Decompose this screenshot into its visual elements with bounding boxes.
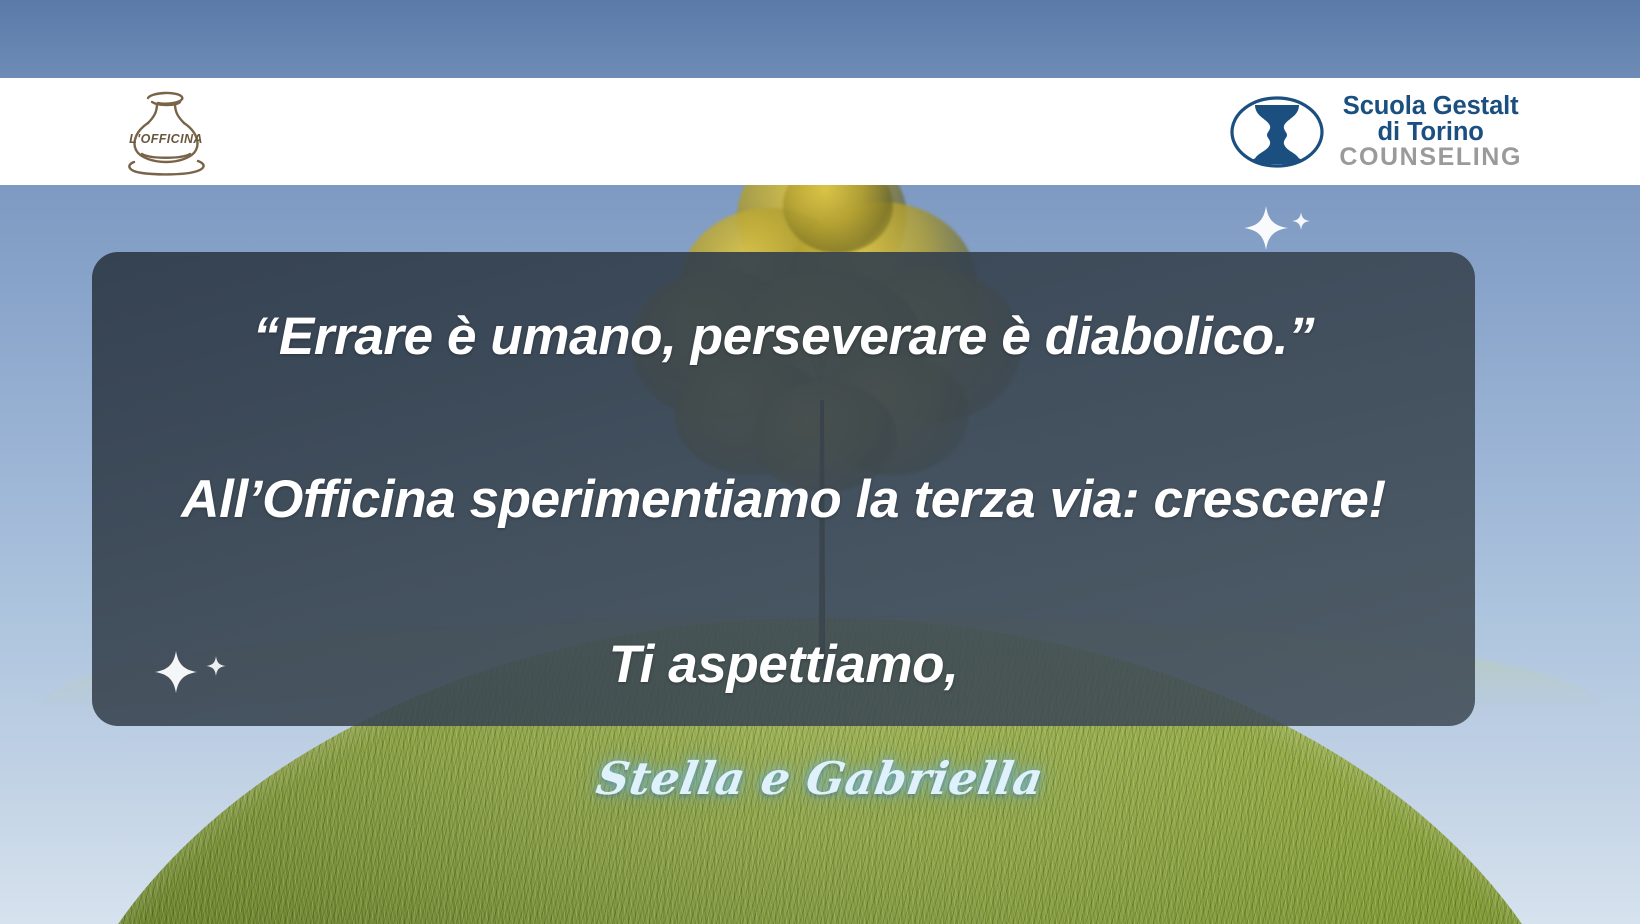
signature-text: Stella e Gabriella — [0, 752, 1640, 805]
gestalt-line-2: di Torino — [1339, 119, 1522, 145]
gestalt-line-1: Scuola Gestalt — [1339, 93, 1522, 119]
gestalt-line-3: COUNSELING — [1339, 145, 1522, 171]
gestalt-logo[interactable]: Scuola Gestalt di Torino COUNSELING — [1229, 88, 1522, 176]
quote-panel-content: “Errare è umano, perseverare è diabolico… — [92, 252, 1475, 726]
gestalt-wordmark: Scuola Gestalt di Torino COUNSELING — [1339, 93, 1522, 171]
poster-canvas: “Errare è umano, perseverare è diabolico… — [0, 0, 1640, 924]
quote-line-2: All’Officina sperimentiamo la terza via:… — [181, 469, 1385, 530]
rubin-vase-faces-icon — [1229, 95, 1325, 169]
quote-line-3: Ti aspettiamo, — [609, 634, 959, 695]
quote-line-1: “Errare è umano, perseverare è diabolico… — [253, 306, 1314, 367]
officina-logo[interactable]: L'OFFICINA — [112, 86, 220, 178]
officina-wordmark: L'OFFICINA — [129, 132, 203, 146]
quote-panel: “Errare è umano, perseverare è diabolico… — [92, 252, 1475, 726]
